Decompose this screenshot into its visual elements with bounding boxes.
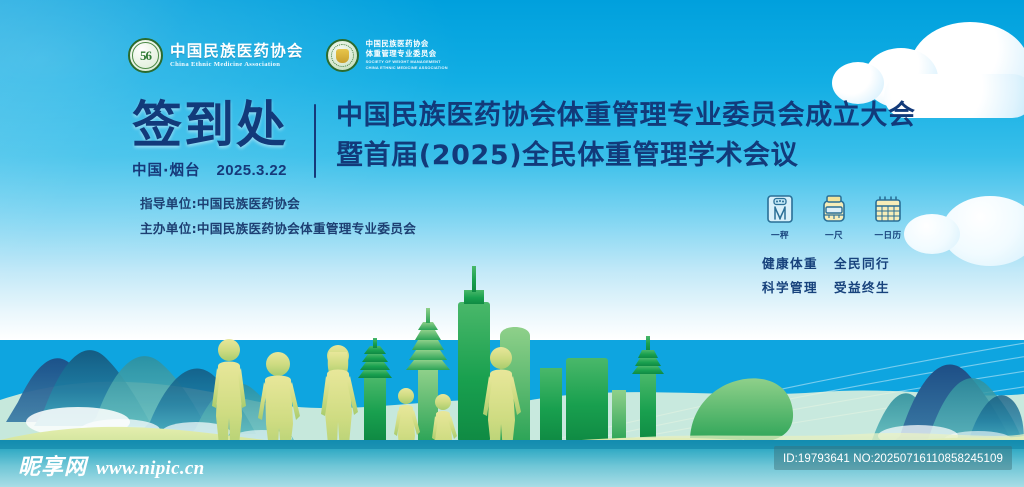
committee-name-line1: 中国民族医药协会 <box>366 40 448 48</box>
cloud-icon <box>832 62 884 104</box>
association-name-cn: 中国民族医药协会 <box>170 43 304 60</box>
main-title-line2: 暨首届(2025)全民体重管理学术会议 <box>336 140 916 173</box>
tool-caption-scale: 一秤 <box>771 229 789 241</box>
association-name-en: China Ethnic Medicine Association <box>170 61 304 68</box>
organizer-list: 指导单位:中国民族医药协会 主办单位:中国民族医药协会体重管理专业委员会 <box>140 193 416 237</box>
event-city: 中国·烟台 <box>132 159 201 180</box>
tool-caption-calendar: 一日历 <box>875 229 902 241</box>
committee-logo-text: 中国民族医药协会 体重管理专业委员会 SOCIETY OF WEIGHT MAN… <box>366 40 448 71</box>
watermark-brand: 昵享网 www.nipic.cn <box>18 449 205 481</box>
cloud-icon <box>904 214 960 254</box>
poster-canvas: 56 中国民族医药协会 China Ethnic Medicine Associ… <box>0 0 1024 487</box>
calendar-icon <box>873 193 903 225</box>
watermark-brand-cn: 昵享网 <box>18 449 87 481</box>
main-title-block: 中国民族医药协会体重管理专业委员会成立大会 暨首届(2025)全民体重管理学术会… <box>336 100 916 173</box>
tool-item-scale: 一秤 <box>762 193 798 241</box>
title-divider <box>314 104 316 178</box>
title-block: 签到处 中国·烟台 2025.3.22 中国民族医药协会体重管理专业委员会成立大… <box>132 100 916 180</box>
association-logo-text: 中国民族医药协会 China Ethnic Medicine Associati… <box>170 43 304 68</box>
three-tools-icon-group: 一秤 一尺 <box>762 193 906 241</box>
committee-name-line2: 体重管理专业委员会 <box>366 50 448 58</box>
sign-in-subline: 中国·烟台 2025.3.22 <box>132 159 308 180</box>
asset-id-text: ID:19793641 NO:20250716110858245109 <box>783 453 1003 465</box>
slogan-1-left: 健康体重 <box>762 253 818 272</box>
slogan-2-left: 科学管理 <box>762 277 818 296</box>
measuring-tape-icon <box>819 193 849 225</box>
circular-green-committee-seal-icon <box>326 39 359 72</box>
weight-scale-icon <box>765 193 795 225</box>
association-logo: 56 中国民族医药协会 China Ethnic Medicine Associ… <box>128 38 304 73</box>
committee-name-line4: CHINA ETHNIC MEDICINE ASSOCIATION <box>366 66 448 71</box>
tool-item-calendar: 一日历 <box>870 193 906 241</box>
committee-name-line3: SOCIETY OF WEIGHT MANAGEMENT <box>366 60 448 65</box>
organizer-host: 主办单位:中国民族医药协会体重管理专业委员会 <box>140 218 416 237</box>
watermark-brand-url[interactable]: www.nipic.cn <box>96 458 204 480</box>
organizer-guidance: 指导单位:中国民族医药协会 <box>140 193 416 212</box>
event-date: 2025.3.22 <box>217 162 287 179</box>
seal-mark-text: 56 <box>140 49 151 62</box>
slogan-block: 健康体重 全民同行 科学管理 受益终生 <box>762 253 890 296</box>
slogan-line-1: 健康体重 全民同行 <box>762 253 890 272</box>
sign-in-heading: 签到处 <box>132 100 308 150</box>
watermark-bar: 昵享网 www.nipic.cn ID:19793641 NO:20250716… <box>0 440 1024 487</box>
circular-green-seal-icon: 56 <box>128 38 163 73</box>
seal-emblem-icon <box>336 49 349 63</box>
slogan-2-right: 受益终生 <box>834 277 890 296</box>
slogan-1-right: 全民同行 <box>834 253 890 272</box>
asset-id-badge: ID:19793641 NO:20250716110858245109 <box>774 446 1012 470</box>
header-logos: 56 中国民族医药协会 China Ethnic Medicine Associ… <box>128 38 448 73</box>
committee-logo: 中国民族医药协会 体重管理专业委员会 SOCIETY OF WEIGHT MAN… <box>326 39 448 72</box>
tool-caption-tape: 一尺 <box>825 229 843 241</box>
slogan-line-2: 科学管理 受益终生 <box>762 277 890 296</box>
main-title-line1: 中国民族医药协会体重管理专业委员会成立大会 <box>336 100 916 133</box>
sign-in-block: 签到处 中国·烟台 2025.3.22 <box>132 100 308 180</box>
tool-item-tape: 一尺 <box>816 193 852 241</box>
